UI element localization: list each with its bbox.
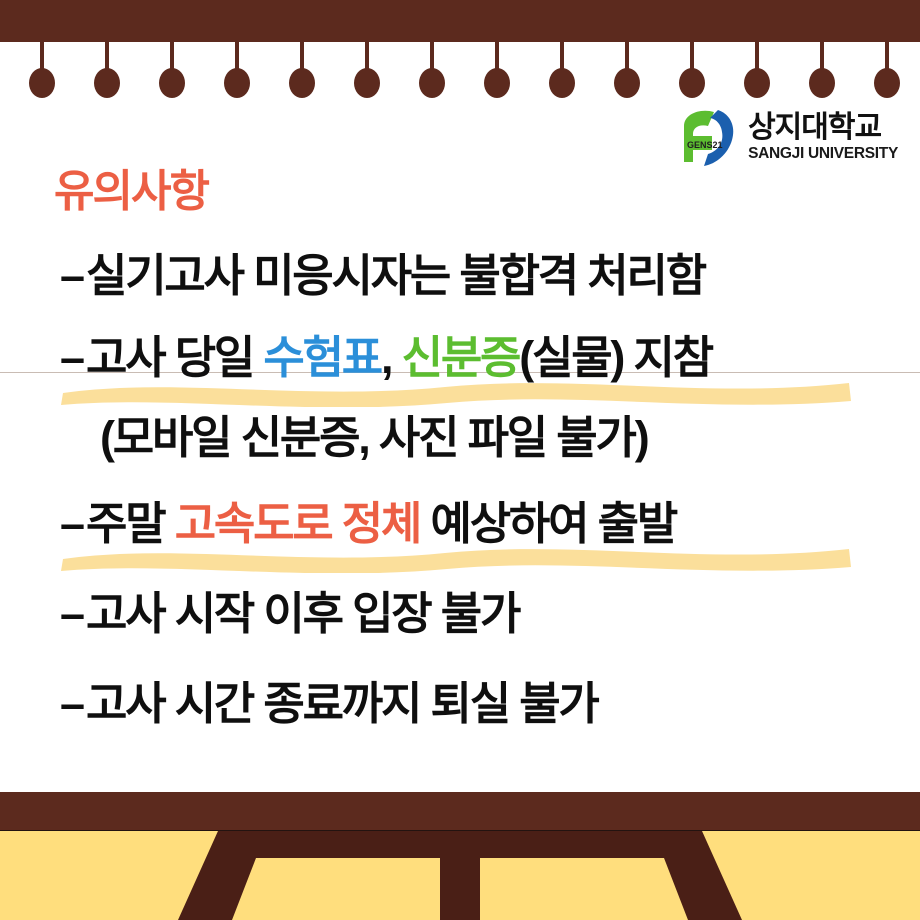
notice-line-text: –고사 시간 종료까지 퇴실 불가 (60, 678, 598, 729)
notice-line: –고사 시간 종료까지 퇴실 불가 (0, 666, 920, 742)
pin-decoration (625, 42, 629, 72)
bullet-dash: – (60, 486, 86, 562)
pin-decoration (105, 42, 109, 72)
pin-decoration (300, 42, 304, 72)
notice-text-segment-red: 고속도로 정체 (175, 498, 421, 549)
notice-line: –고사 당일 수험표, 신분증(실물) 지참 (0, 320, 920, 396)
board-bottom-frame (0, 792, 920, 833)
board-content: GENS21 상지대학교 SANGJI UNIVERSITY 유의사항 –실기고… (0, 102, 920, 792)
notice-line-text: (모바일 신분증, 사진 파일 불가) (100, 412, 647, 463)
bullet-dash: – (60, 576, 86, 652)
pin-bulb-icon (809, 68, 835, 98)
notice-line: –주말 고속도로 정체 예상하여 출발 (0, 486, 920, 562)
notice-line-text: –고사 당일 수험표, 신분증(실물) 지참 (60, 332, 712, 383)
notice-line-text: –고사 시작 이후 입장 불가 (60, 588, 519, 639)
notice-text-segment-black: 실기고사 미응시자는 불합격 처리함 (86, 250, 705, 301)
pin-bulb-icon (744, 68, 770, 98)
pin-decoration (495, 42, 499, 72)
notice-line: (모바일 신분증, 사진 파일 불가) (0, 400, 920, 476)
pin-bulb-icon (289, 68, 315, 98)
pin-bulb-icon (94, 68, 120, 98)
bullet-dash: – (60, 320, 86, 396)
notice-text-segment-black: (실물) 지참 (519, 332, 712, 383)
pin-bulb-icon (874, 68, 900, 98)
notice-text-segment-black: , (381, 332, 402, 383)
notice-line: –실기고사 미응시자는 불합격 처리함 (0, 238, 920, 314)
hanging-pin-decoration (0, 42, 920, 102)
easel-base (0, 831, 920, 920)
pin-bulb-icon (484, 68, 510, 98)
easel-legs (0, 831, 920, 920)
pin-bulb-icon (29, 68, 55, 98)
pin-bulb-icon (679, 68, 705, 98)
pin-bulb-icon (224, 68, 250, 98)
pin-decoration (560, 42, 564, 72)
notice-text-segment-black: 고사 시작 이후 입장 불가 (86, 588, 519, 639)
notice-poster: GENS21 상지대학교 SANGJI UNIVERSITY 유의사항 –실기고… (0, 0, 920, 920)
pin-decoration (365, 42, 369, 72)
university-name-english: SANGJI UNIVERSITY (748, 146, 898, 162)
notice-line-text: –실기고사 미응시자는 불합격 처리함 (60, 250, 705, 301)
pin-bulb-icon (614, 68, 640, 98)
notice-text-segment-black: 주말 (86, 498, 175, 549)
board-top-frame (0, 0, 920, 42)
pin-decoration (430, 42, 434, 72)
notice-text-segment-black: 예상하여 출발 (420, 498, 676, 549)
pin-decoration (885, 42, 889, 72)
pin-decoration (755, 42, 759, 72)
pin-bulb-icon (549, 68, 575, 98)
page-title: 유의사항 (54, 170, 208, 214)
gens21-label: GENS21 (687, 140, 723, 150)
university-logo: GENS21 상지대학교 SANGJI UNIVERSITY (678, 106, 898, 168)
pin-bulb-icon (159, 68, 185, 98)
university-name-korean: 상지대학교 (748, 113, 881, 143)
notice-list: –실기고사 미응시자는 불합격 처리함–고사 당일 수험표, 신분증(실물) 지… (0, 238, 920, 742)
pin-bulb-icon (419, 68, 445, 98)
university-name-block: 상지대학교 SANGJI UNIVERSITY (748, 113, 898, 162)
pin-bulb-icon (354, 68, 380, 98)
notice-text-segment-black: 고사 시간 종료까지 퇴실 불가 (86, 678, 598, 729)
notice-text-segment-black: 고사 당일 (86, 332, 263, 383)
notice-text-segment-blue: 수험표 (263, 332, 381, 383)
bullet-dash: – (60, 666, 86, 742)
notice-line: –고사 시작 이후 입장 불가 (0, 576, 920, 652)
pin-decoration (170, 42, 174, 72)
notice-text-segment-black: (모바일 신분증, 사진 파일 불가) (100, 412, 647, 463)
sangji-emblem-icon: GENS21 (678, 106, 740, 168)
notice-text-segment-green: 신분증 (402, 332, 520, 383)
pin-decoration (40, 42, 44, 72)
pin-decoration (235, 42, 239, 72)
pin-decoration (820, 42, 824, 72)
notice-line-text: –주말 고속도로 정체 예상하여 출발 (60, 498, 676, 549)
bullet-dash: – (60, 238, 86, 314)
pin-decoration (690, 42, 694, 72)
